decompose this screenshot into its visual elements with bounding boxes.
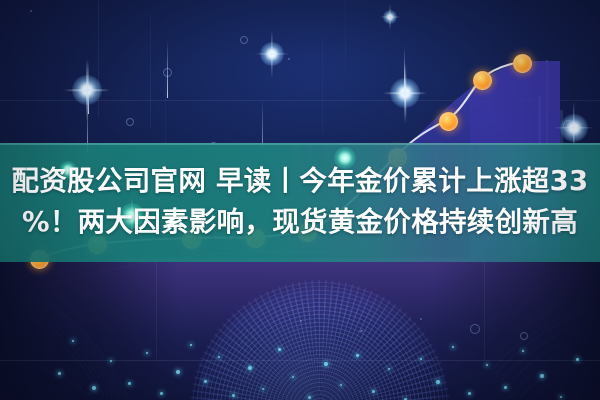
- vignette-overlay: [0, 0, 600, 400]
- thumbnail-canvas: 配资股公司官网 早读丨今年金价累计上涨超33 %！两大因素影响，现货黄金价格持续…: [0, 0, 600, 400]
